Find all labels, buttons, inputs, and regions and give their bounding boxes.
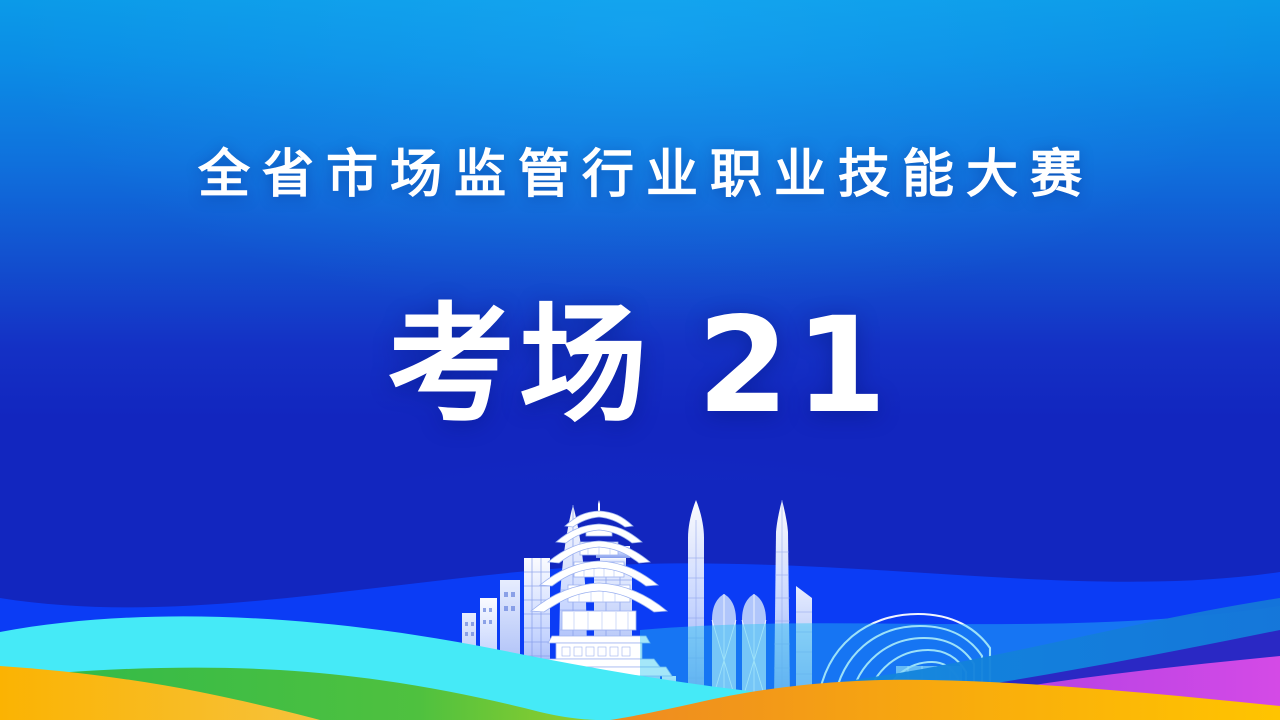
event-title: 全省市场监管行业职业技能大赛	[186, 148, 1094, 203]
bottom-decoration	[0, 480, 1280, 720]
room-label: 考场	[387, 302, 651, 430]
room-number: 21	[697, 300, 893, 432]
event-title-row: 全省市场监管行业职业技能大赛	[0, 148, 1280, 203]
slide-canvas: 全省市场监管行业职业技能大赛 考场21	[0, 0, 1280, 720]
room-heading-row: 考场21	[0, 300, 1280, 432]
skyline-waves-svg	[0, 480, 1280, 720]
